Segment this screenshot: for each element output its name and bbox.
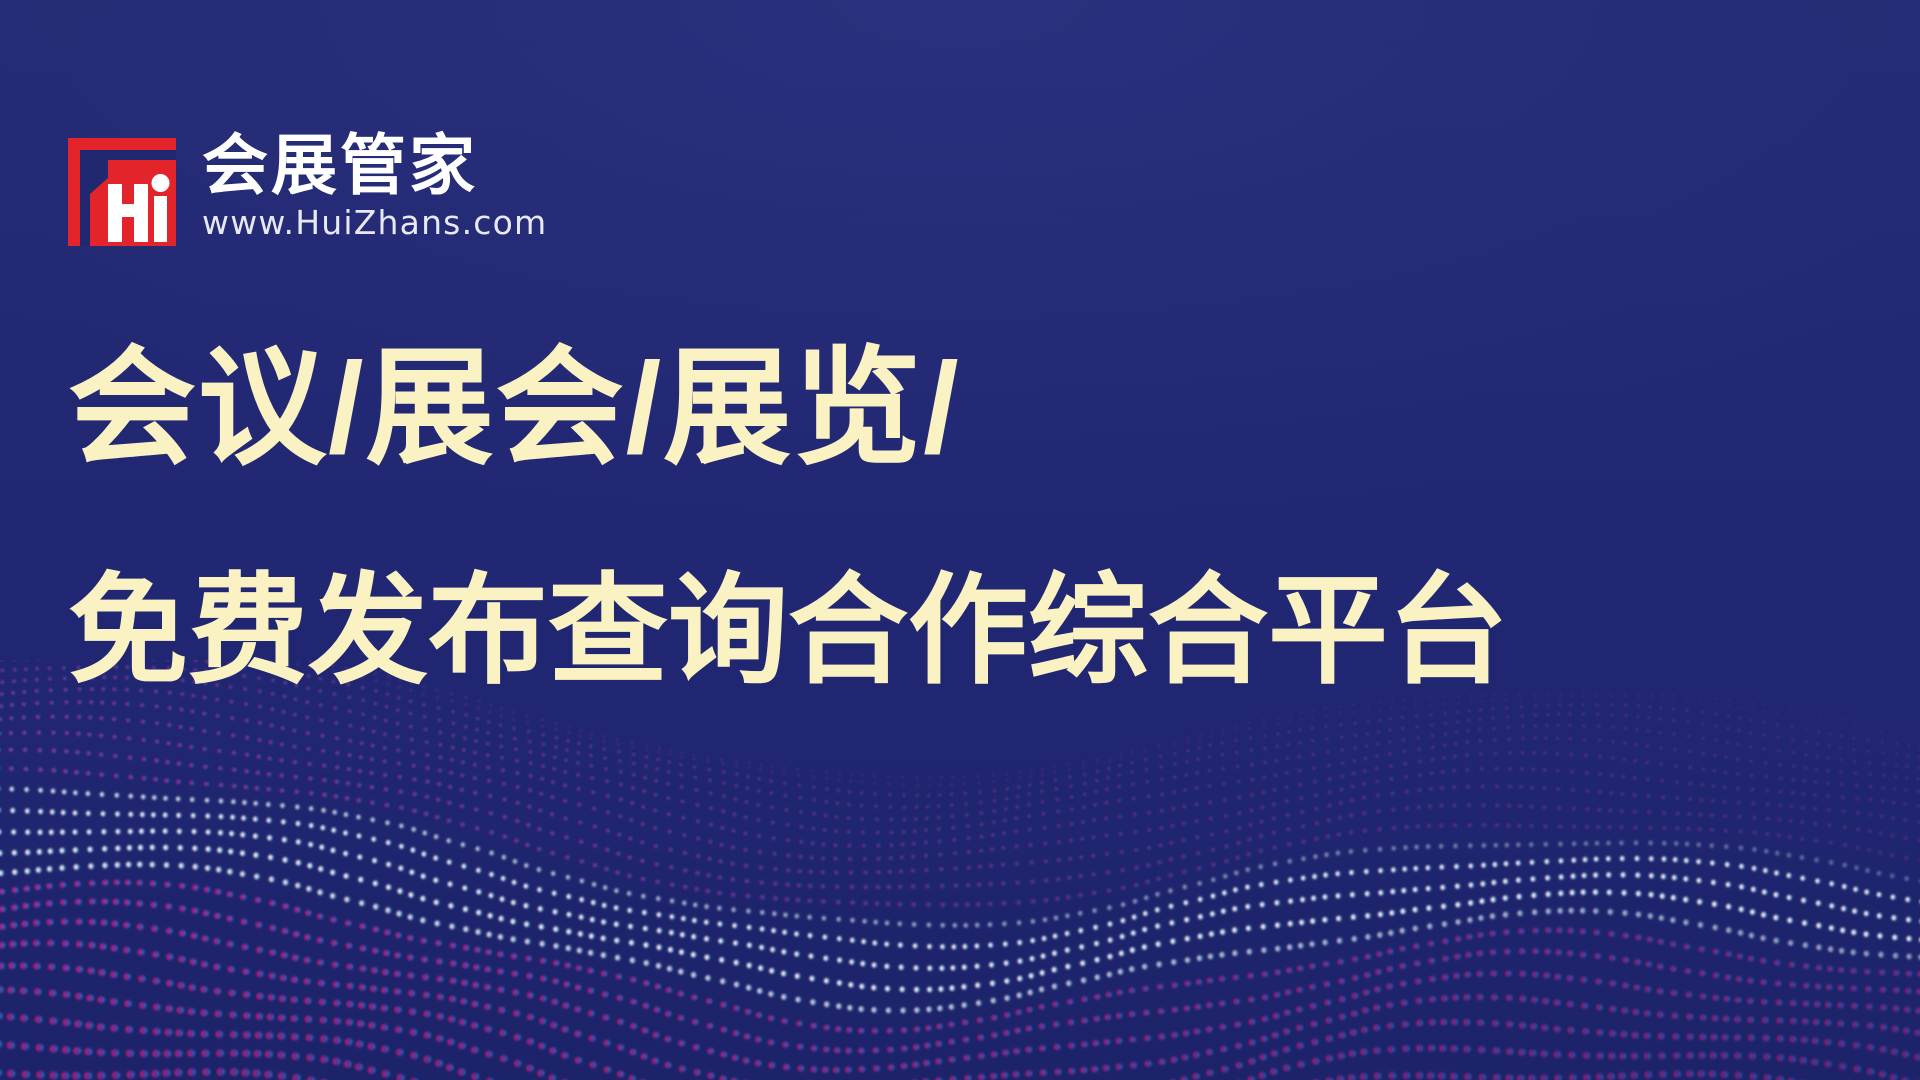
brand-name: 会展管家 <box>202 132 547 199</box>
particle-wave <box>0 660 1920 1080</box>
brand-url: www.HuiZhans.com <box>202 205 547 241</box>
brand-text: 会展管家 www.HuiZhans.com <box>202 130 547 242</box>
headline: 会议/展会/展览/ 免费发布查询合作综合平台 <box>68 345 1508 691</box>
headline-line-2: 免费发布查询合作综合平台 <box>68 571 1508 691</box>
huizhans-hi-square-logo-icon <box>68 138 176 246</box>
brand-lockup: 会展管家 www.HuiZhans.com <box>68 130 547 246</box>
promo-banner: 会展管家 www.HuiZhans.com 会议/展会/展览/ 免费发布查询合作… <box>0 0 1920 1080</box>
headline-line-1: 会议/展会/展览/ <box>68 345 1508 473</box>
